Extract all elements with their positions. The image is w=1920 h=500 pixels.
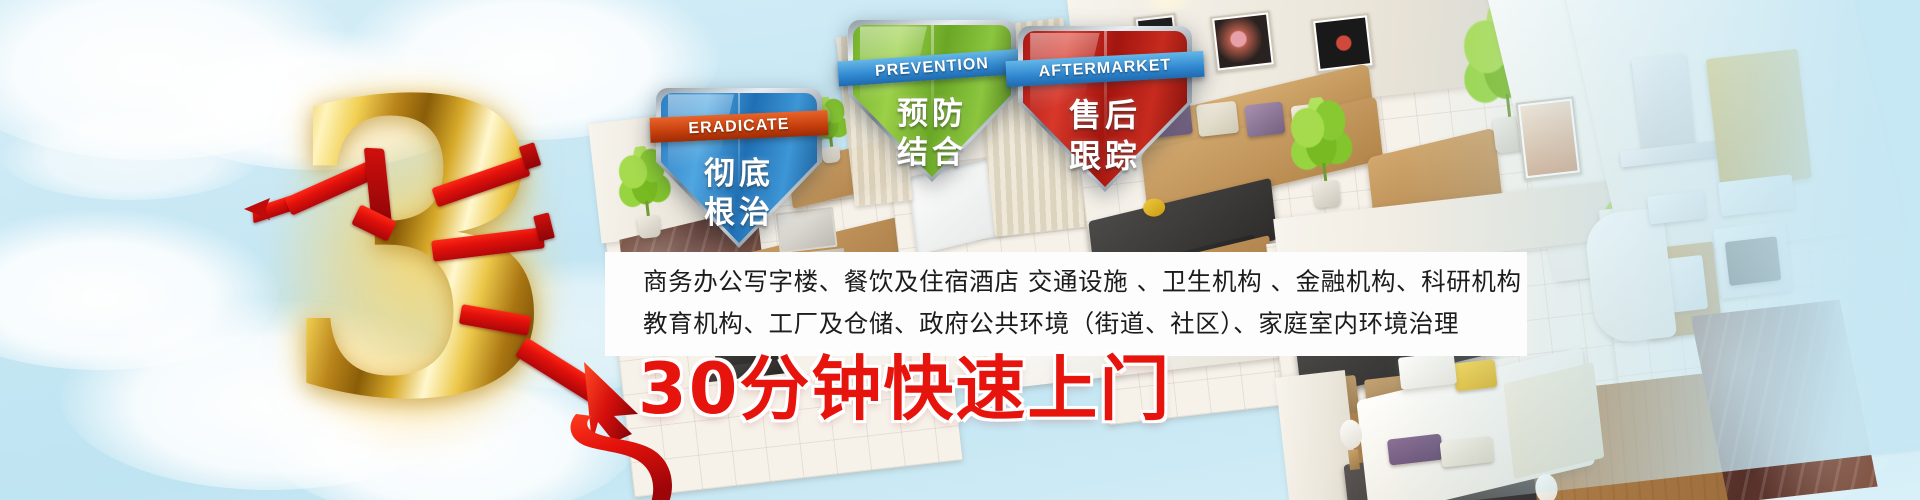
headline-30-minute-fast-dispatch: 30分钟快速上门 (638, 352, 1171, 426)
badge-aftermarket-english: AFTERMARKET (1038, 57, 1172, 82)
service-scope-line-2: 教育机构、工厂及仓储、政府公共环境（街道、社区）、家庭室内环境治理 (643, 303, 1527, 345)
badge-aftermarket-cn-line1: 售后 (1018, 90, 1192, 136)
service-scope-line-1: 商务办公写字楼、餐饮及住宿酒店 交通设施 、卫生机构 、金融机构、科研机构 (643, 261, 1527, 303)
badge-eradicate-english: ERADICATE (688, 115, 790, 137)
badge-prevention: PREVENTION 预防 结合 (848, 20, 1016, 182)
badge-aftermarket: AFTERMARKET 售后 跟踪 (1018, 26, 1192, 192)
badge-aftermarket-cn-line2: 跟踪 (1018, 131, 1192, 177)
badge-eradicate-cn-line2: 根治 (656, 187, 822, 232)
promotional-banner: 3 ERADICATE 彻底 根治 (0, 0, 1920, 500)
cloud (0, 110, 260, 200)
badge-prevention-english: PREVENTION (874, 55, 989, 81)
badge-prevention-cn-line2: 结合 (848, 127, 1016, 172)
badge-eradicate: ERADICATE 彻底 根治 (656, 88, 822, 248)
